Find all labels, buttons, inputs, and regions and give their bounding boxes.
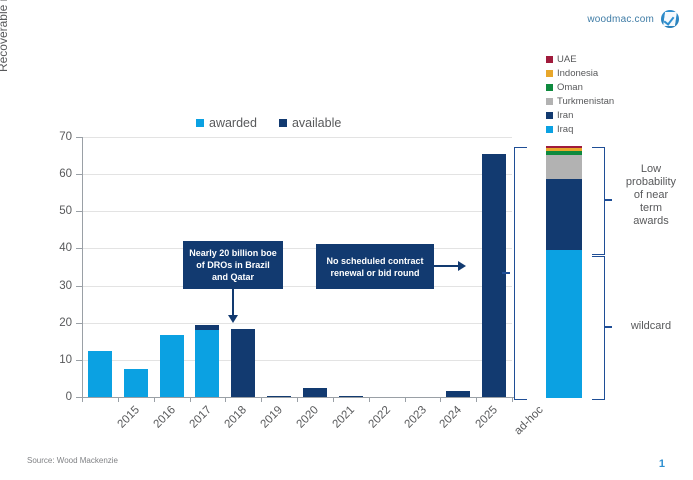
brace-wildcard — [592, 256, 605, 400]
x-axis-label-2025: 2025 — [474, 404, 501, 431]
brand-text: woodmac.com — [587, 14, 654, 25]
bar-segment-awarded[interactable] — [124, 369, 148, 397]
legend-swatch-icon — [196, 119, 204, 127]
x-tick-mark — [369, 397, 370, 402]
country-legend-item-Iran[interactable]: Iran — [546, 108, 614, 122]
callout-text: Nearly 20 billion boeof DROs in Brazilan… — [189, 247, 277, 283]
stack-segment-Iraq[interactable] — [546, 250, 582, 398]
adhoc-stacked-bar — [546, 146, 582, 398]
stack-segment-Indonesia[interactable] — [546, 148, 582, 151]
y-tick-label: 40 — [44, 242, 72, 254]
x-tick-mark — [118, 397, 119, 402]
brace-label-line: Low — [614, 163, 688, 176]
legend-swatch-icon — [546, 56, 553, 63]
callout-text-line: of DROs in Brazil — [189, 259, 277, 271]
brace-wildcard-nub — [604, 326, 612, 328]
bar-segment-available[interactable] — [446, 391, 470, 397]
x-tick-mark — [512, 397, 513, 402]
callout-text-line: and Qatar — [189, 271, 277, 283]
brace-label-line: of near — [614, 189, 688, 202]
y-tick-label: 30 — [44, 280, 72, 292]
bar-segment-available[interactable] — [195, 325, 219, 330]
y-axis-title: Recoverable resources (bnboe) — [0, 0, 10, 128]
legend-swatch-icon — [546, 126, 553, 133]
brace-wildcard-label: wildcard — [614, 320, 688, 333]
bar-group[interactable] — [124, 137, 148, 397]
country-legend-label: Turkmenistan — [557, 96, 614, 107]
x-axis-label-2023: 2023 — [402, 404, 429, 431]
x-axis-label-2015: 2015 — [115, 404, 142, 431]
stack-segment-Iran[interactable] — [546, 179, 582, 250]
country-legend-label: UAE — [557, 54, 577, 65]
x-tick-mark — [225, 397, 226, 402]
brand-header: woodmac.com — [587, 10, 679, 28]
legend-swatch-icon — [546, 112, 553, 119]
stack-segment-Turkmenistan[interactable] — [546, 155, 582, 179]
chart-legend: awardedavailable — [196, 116, 341, 130]
x-axis-label-2018: 2018 — [223, 404, 250, 431]
country-legend-item-Indonesia[interactable]: Indonesia — [546, 66, 614, 80]
bar-group[interactable] — [482, 137, 506, 397]
chart-legend-label: available — [292, 116, 341, 130]
country-legend: UAEIndonesiaOmanTurkmenistanIranIraq — [546, 52, 614, 136]
x-tick-mark — [333, 397, 334, 402]
bar-group[interactable] — [160, 137, 184, 397]
y-tick-label: 50 — [44, 205, 72, 217]
x-tick-mark — [261, 397, 262, 402]
bar-segment-available[interactable] — [482, 154, 506, 397]
x-tick-mark — [190, 397, 191, 402]
x-axis-label-ad-hoc: ad-hoc — [512, 404, 545, 437]
bar-segment-available[interactable] — [339, 396, 363, 397]
legend-swatch-icon — [546, 84, 553, 91]
legend-swatch-icon — [546, 98, 553, 105]
woodmac-check-badge-icon — [661, 10, 679, 28]
x-tick-mark — [154, 397, 155, 402]
x-axis-label-2024: 2024 — [438, 404, 465, 431]
bars-plot-area — [82, 137, 512, 397]
brace-low-probability — [592, 147, 605, 255]
y-tick-label: 60 — [44, 168, 72, 180]
brace-label-line: wildcard — [614, 320, 688, 333]
y-tick-label: 0 — [44, 391, 72, 403]
callout-dros-brazil-qatar[interactable]: Nearly 20 billion boeof DROs in Brazilan… — [183, 241, 283, 289]
country-legend-label: Oman — [557, 82, 583, 93]
page-number: 1 — [659, 458, 665, 470]
country-legend-item-Iraq[interactable]: Iraq — [546, 122, 614, 136]
x-tick-mark — [405, 397, 406, 402]
brace-low-probability-nub — [604, 199, 612, 201]
country-legend-item-Turkmenistan[interactable]: Turkmenistan — [546, 94, 614, 108]
x-tick-mark — [82, 397, 83, 402]
country-legend-label: Indonesia — [557, 68, 598, 79]
country-legend-label: Iraq — [557, 124, 573, 135]
brace-label-line: term — [614, 202, 688, 215]
x-tick-mark — [440, 397, 441, 402]
y-tick-label: 70 — [44, 131, 72, 143]
bar-segment-awarded[interactable] — [160, 335, 184, 397]
callout-no-renewal-arrow-line — [434, 265, 460, 267]
chart-legend-item-available[interactable]: available — [279, 116, 341, 130]
bar-segment-awarded[interactable] — [195, 330, 219, 397]
bar-segment-available[interactable] — [303, 388, 327, 397]
x-axis-label-2016: 2016 — [151, 404, 178, 431]
bar-segment-awarded[interactable] — [88, 351, 112, 397]
brace-label-line: awards — [614, 215, 688, 228]
chart-legend-label: awarded — [209, 116, 257, 130]
y-tick-label: 10 — [44, 354, 72, 366]
brace-adhoc-total — [514, 147, 527, 400]
y-tick-label: 20 — [44, 317, 72, 329]
brace-label-line: probability — [614, 176, 688, 189]
callout-no-renewal[interactable]: No scheduled contractrenewal or bid roun… — [316, 244, 434, 289]
x-axis-label-2017: 2017 — [187, 404, 214, 431]
callout-text: No scheduled contractrenewal or bid roun… — [326, 255, 423, 279]
country-legend-item-UAE[interactable]: UAE — [546, 52, 614, 66]
callout-dros-arrowhead-icon — [228, 315, 238, 323]
x-axis-label-2021: 2021 — [330, 404, 357, 431]
chart-legend-item-awarded[interactable]: awarded — [196, 116, 257, 130]
callout-text-line: renewal or bid round — [326, 267, 423, 279]
brace-low-probability-label: Lowprobabilityof neartermawards — [614, 163, 688, 228]
x-tick-mark — [476, 397, 477, 402]
bar-segment-available[interactable] — [267, 396, 291, 397]
country-legend-label: Iran — [557, 110, 573, 121]
bar-group[interactable] — [88, 137, 112, 397]
x-axis-label-2022: 2022 — [366, 404, 393, 431]
brace-adhoc-total-nub — [502, 272, 510, 274]
country-legend-item-Oman[interactable]: Oman — [546, 80, 614, 94]
x-axis-label-2019: 2019 — [259, 404, 286, 431]
slide-canvas: woodmac.com Recoverable resources (bnboe… — [0, 0, 693, 480]
x-axis-line — [82, 397, 514, 398]
stack-segment-UAE[interactable] — [546, 146, 582, 148]
legend-swatch-icon — [279, 119, 287, 127]
bar-segment-available[interactable] — [231, 329, 255, 397]
source-note: Source: Wood Mackenzie — [27, 456, 118, 465]
callout-no-renewal-arrowhead-icon — [458, 261, 466, 271]
callout-text-line: Nearly 20 billion boe — [189, 247, 277, 259]
stack-segment-Oman[interactable] — [546, 151, 582, 155]
legend-swatch-icon — [546, 70, 553, 77]
x-axis-label-2020: 2020 — [295, 404, 322, 431]
callout-text-line: No scheduled contract — [326, 255, 423, 267]
x-tick-mark — [297, 397, 298, 402]
callout-dros-arrow-line — [232, 289, 234, 317]
